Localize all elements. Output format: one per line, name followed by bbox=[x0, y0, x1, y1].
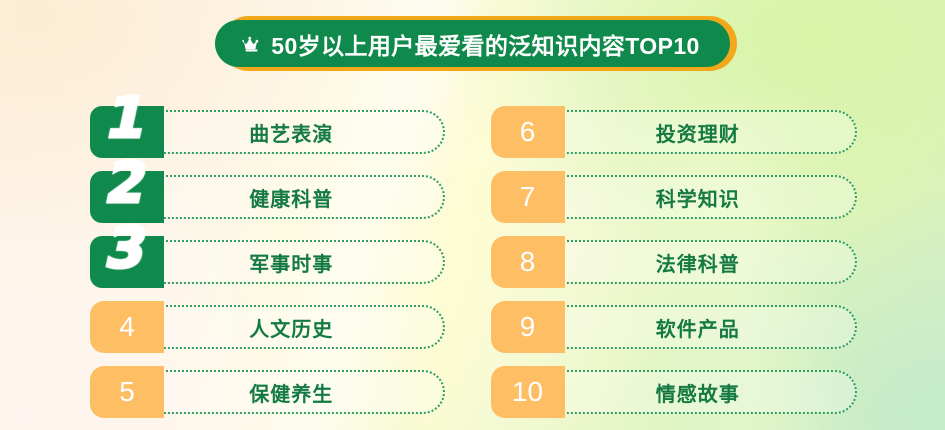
ranking-row[interactable]: 9 软件产品 bbox=[491, 299, 858, 355]
content-label: 军事时事 bbox=[138, 240, 445, 284]
rank-badge: 4 bbox=[90, 301, 164, 353]
ranking-columns: 1 曲艺表演 2 健康科普 3 军事时事 bbox=[0, 104, 945, 429]
content-label: 法律科普 bbox=[539, 240, 858, 284]
rank-badge: 5 bbox=[90, 366, 164, 418]
rank-badge: 8 bbox=[491, 236, 565, 288]
ranking-row[interactable]: 3 军事时事 bbox=[90, 234, 445, 290]
ranking-row[interactable]: 8 法律科普 bbox=[491, 234, 858, 290]
rank-number: 10 bbox=[512, 378, 543, 406]
rank-number: 4 bbox=[119, 313, 135, 341]
rank-number: 3 bbox=[101, 221, 151, 277]
content-label: 保健养生 bbox=[138, 370, 445, 414]
ranking-row[interactable]: 6 投资理财 bbox=[491, 104, 858, 160]
rank-number: 5 bbox=[119, 378, 135, 406]
content-label: 情感故事 bbox=[539, 370, 858, 414]
rank-number: 9 bbox=[520, 313, 536, 341]
ranking-row[interactable]: 10 情感故事 bbox=[491, 364, 858, 420]
content-label: 科学知识 bbox=[539, 175, 858, 219]
rank-badge: 6 bbox=[491, 106, 565, 158]
rank-number: 6 bbox=[520, 118, 536, 146]
ranking-column-left: 1 曲艺表演 2 健康科普 3 军事时事 bbox=[0, 104, 473, 429]
title-pill: 50岁以上用户最爱看的泛知识内容TOP10 bbox=[215, 20, 729, 67]
rank-badge: 7 bbox=[491, 171, 565, 223]
rank-number: 2 bbox=[101, 156, 151, 212]
content-label: 健康科普 bbox=[138, 175, 445, 219]
rank-badge: 10 bbox=[491, 366, 565, 418]
content-label: 投资理财 bbox=[539, 110, 858, 154]
infographic-canvas: 50岁以上用户最爱看的泛知识内容TOP10 1 曲艺表演 2 健康科普 bbox=[0, 0, 945, 430]
title-banner: 50岁以上用户最爱看的泛知识内容TOP10 bbox=[0, 20, 945, 67]
rank-number: 8 bbox=[520, 248, 536, 276]
rank-badge: 3 bbox=[90, 236, 164, 288]
rank-badge: 9 bbox=[491, 301, 565, 353]
rank-number: 1 bbox=[101, 91, 151, 147]
rank-number: 7 bbox=[520, 183, 536, 211]
crown-icon bbox=[241, 36, 262, 52]
content-label: 人文历史 bbox=[138, 305, 445, 349]
page-title: 50岁以上用户最爱看的泛知识内容TOP10 bbox=[271, 27, 699, 61]
content-label: 曲艺表演 bbox=[138, 110, 445, 154]
ranking-column-right: 6 投资理财 7 科学知识 8 法律科普 bbox=[473, 104, 945, 429]
ranking-row[interactable]: 7 科学知识 bbox=[491, 169, 858, 225]
content-label: 软件产品 bbox=[539, 305, 858, 349]
ranking-row[interactable]: 5 保健养生 bbox=[90, 364, 445, 420]
ranking-row[interactable]: 4 人文历史 bbox=[90, 299, 445, 355]
